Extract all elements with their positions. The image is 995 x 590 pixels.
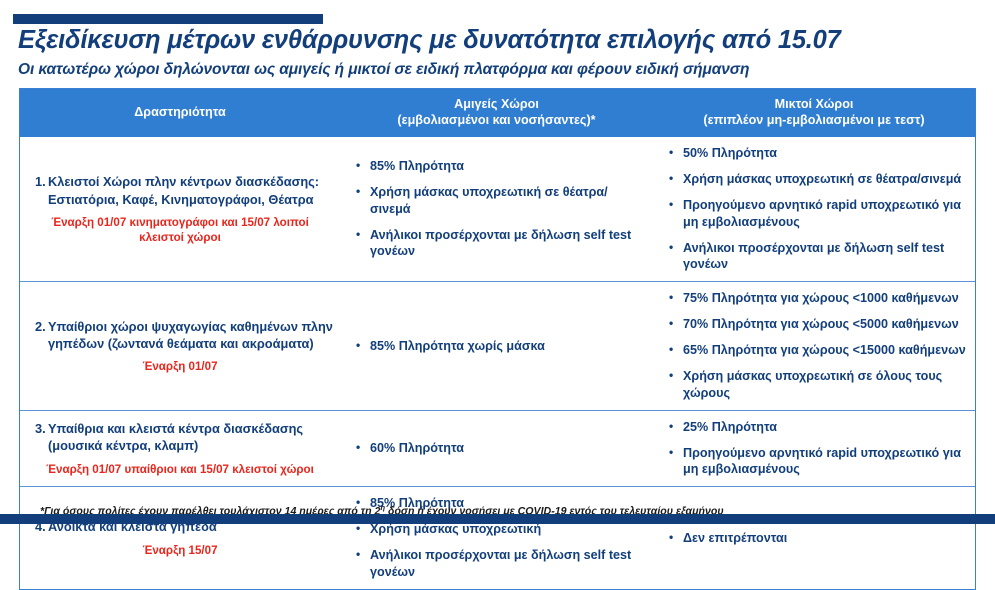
table-row: 3.Υπαίθρια και κλειστά κέντρα διασκέδαση…	[20, 410, 975, 487]
activity-label: Υπαίθριοι χώροι ψυχαγωγίας καθημένων πλη…	[48, 318, 334, 353]
column-header-pure-subtitle: (εμβολιασμένοι και νοσήσαντες)*	[397, 113, 595, 129]
activity-block: 1.Κλειστοί Χώροι πλην κέντρων διασκέδαση…	[26, 173, 334, 245]
row-number: 1.	[26, 173, 48, 208]
mixed-rule-item: Προηγούμενο αρνητικό rapid υποχρεωτικό γ…	[667, 445, 969, 479]
table-row: 1.Κλειστοί Χώροι πλην κέντρων διασκέδαση…	[20, 137, 975, 281]
pure-rule-item: 60% Πληρότητα	[354, 440, 647, 457]
activity-block: 2.Υπαίθριοι χώροι ψυχαγωγίας καθημένων π…	[26, 318, 334, 375]
column-header-pure-spaces: Αμιγείς Χώροι (εμβολιασμένοι και νοσήσαν…	[340, 89, 653, 137]
cell-pure-spaces: 60% Πληρότητα	[340, 432, 653, 465]
cell-mixed-spaces: Δεν επιτρέπονται	[653, 522, 975, 555]
cell-activity: 2.Υπαίθριοι χώροι ψυχαγωγίας καθημένων π…	[20, 310, 340, 383]
activity-block: 4.Ανοικτά και κλειστά γήπεδαΈναρξη 15/07	[26, 518, 334, 557]
pure-rule-item: 85% Πληρότητα χωρίς μάσκα	[354, 338, 647, 355]
column-header-mixed-title: Μικτοί Χώροι	[775, 97, 854, 113]
mixed-rule-item: 50% Πληρότητα	[667, 145, 969, 162]
column-header-activity-title: Δραστηριότητα	[134, 105, 225, 121]
row-number: 3.	[26, 420, 48, 455]
page-title: Εξειδίκευση μέτρων ενθάρρυνσης με δυνατό…	[18, 26, 978, 55]
activity-label: Κλειστοί Χώροι πλην κέντρων διασκέδασης:…	[48, 173, 334, 208]
title-block: Εξειδίκευση μέτρων ενθάρρυνσης με δυνατό…	[18, 26, 978, 79]
mixed-rule-item: 65% Πληρότητα για χώρους <15000 καθήμενω…	[667, 342, 969, 359]
cell-activity: 1.Κλειστοί Χώροι πλην κέντρων διασκέδαση…	[20, 165, 340, 253]
start-date-note: Έναρξη 01/07 υπαίθριοι και 15/07 κλειστο…	[26, 462, 334, 477]
mixed-rule-item: Δεν επιτρέπονται	[667, 530, 969, 547]
pure-rule-item-list: 85% ΠληρότηταΧρήση μάσκας υποχρεωτική σε…	[346, 158, 647, 260]
start-date-note: Έναρξη 01/07 κινηματογράφοι και 15/07 λο…	[26, 215, 334, 245]
mixed-rule-item: 70% Πληρότητα για χώρους <5000 καθήμενων	[667, 316, 969, 333]
mixed-rule-item-list: 25% ΠληρότηταΠροηγούμενο αρνητικό rapid …	[659, 419, 969, 479]
activity-line: 3.Υπαίθρια και κλειστά κέντρα διασκέδαση…	[26, 420, 334, 455]
mixed-rule-item: Ανήλικοι προσέρχονται με δήλωση self tes…	[667, 240, 969, 274]
mixed-rule-item-list: 75% Πληρότητα για χώρους <1000 καθήμενων…	[659, 290, 969, 401]
mixed-rule-item: Χρήση μάσκας υποχρεωτική σε θέατρα/σινεμ…	[667, 171, 969, 188]
row-number: 2.	[26, 318, 48, 353]
cell-pure-spaces: 85% ΠληρότηταΧρήση μάσκας υποχρεωτική σε…	[340, 150, 653, 268]
table-row: 2.Υπαίθριοι χώροι ψυχαγωγίας καθημένων π…	[20, 281, 975, 409]
activity-label: Υπαίθρια και κλειστά κέντρα διασκέδασης …	[48, 420, 334, 455]
pure-rule-item: Ανήλικοι προσέρχονται με δήλωση self tes…	[354, 547, 647, 581]
column-header-mixed-spaces: Μικτοί Χώροι (επιπλέον μη-εμβολιασμένοι …	[653, 89, 975, 137]
cell-mixed-spaces: 25% ΠληρότηταΠροηγούμενο αρνητικό rapid …	[653, 411, 975, 487]
activity-line: 1.Κλειστοί Χώροι πλην κέντρων διασκέδαση…	[26, 173, 334, 208]
pure-rule-item-list: 60% Πληρότητα	[346, 440, 647, 457]
mixed-rule-item-list: Δεν επιτρέπονται	[659, 530, 969, 547]
top-accent-bar	[13, 14, 323, 24]
table-header-row: Δραστηριότητα Αμιγείς Χώροι (εμβολιασμέν…	[20, 89, 975, 137]
mixed-rule-item-list: 50% ΠληρότηταΧρήση μάσκας υποχρεωτική σε…	[659, 145, 969, 273]
page-subtitle: Οι κατωτέρω χώροι δηλώνονται ως αμιγείς …	[18, 61, 978, 79]
cell-mixed-spaces: 75% Πληρότητα για χώρους <1000 καθήμενων…	[653, 282, 975, 409]
start-date-note: Έναρξη 01/07	[26, 359, 334, 374]
activity-block: 3.Υπαίθρια και κλειστά κέντρα διασκέδαση…	[26, 420, 334, 477]
mixed-rule-item: 75% Πληρότητα για χώρους <1000 καθήμενων	[667, 290, 969, 307]
mixed-rule-item: Προηγούμενο αρνητικό rapid υποχρεωτικό γ…	[667, 197, 969, 231]
column-header-activity: Δραστηριότητα	[20, 89, 340, 137]
mixed-rule-item: 25% Πληρότητα	[667, 419, 969, 436]
cell-activity: 3.Υπαίθρια και κλειστά κέντρα διασκέδαση…	[20, 412, 340, 485]
cell-mixed-spaces: 50% ΠληρότηταΧρήση μάσκας υποχρεωτική σε…	[653, 137, 975, 281]
pure-rule-item: Χρήση μάσκας υποχρεωτική σε θέατρα/σινεμ…	[354, 184, 647, 218]
mixed-rule-item: Χρήση μάσκας υποχρεωτική σε όλους τους χ…	[667, 368, 969, 402]
pure-rule-item-list: 85% Πληρότητα χωρίς μάσκα	[346, 338, 647, 355]
bottom-accent-bar	[0, 514, 995, 524]
column-header-mixed-subtitle: (επιπλέον μη-εμβολιασμένοι με τεστ)	[703, 113, 924, 129]
pure-rule-item: Ανήλικοι προσέρχονται με δήλωση self tes…	[354, 227, 647, 261]
table-row: 4.Ανοικτά και κλειστά γήπεδαΈναρξη 15/07…	[20, 486, 975, 589]
column-header-pure-title: Αμιγείς Χώροι	[454, 97, 539, 113]
activity-line: 2.Υπαίθριοι χώροι ψυχαγωγίας καθημένων π…	[26, 318, 334, 353]
pure-rule-item: 85% Πληρότητα	[354, 158, 647, 175]
cell-pure-spaces: 85% Πληρότητα χωρίς μάσκα	[340, 330, 653, 363]
start-date-note: Έναρξη 15/07	[26, 543, 334, 558]
